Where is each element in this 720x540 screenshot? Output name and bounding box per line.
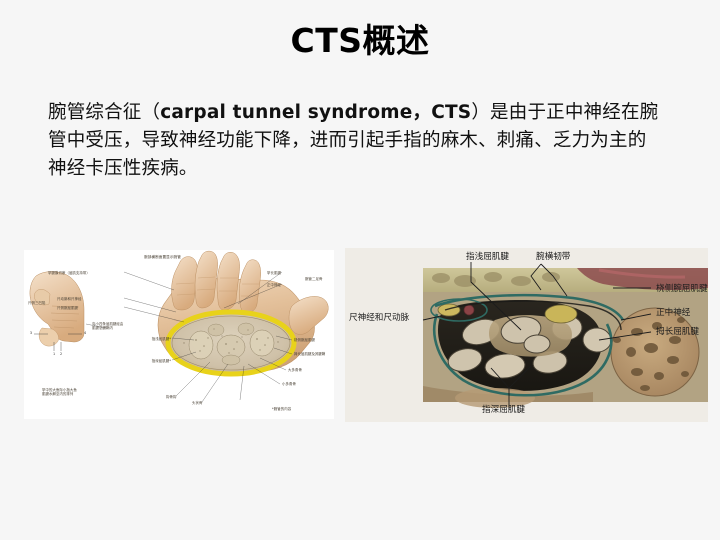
small-hand-caption: 掌中的大鱼际小指大鱼 肌腱水解至内的排列 [42,388,98,397]
left-label-2: 尺侧腕屈肌腱 [57,305,78,310]
left-label-4: 正中神经 [267,282,281,287]
figure-palm-carpal-tunnel: 3 4 1 2 [24,250,334,419]
left-label-9: 拇长屈肌腱及其腱鞘 [294,351,325,356]
left-label-7: 指深屈肌腱* [119,358,171,363]
left-figure-caption: 腕部横断面置显示腕管 [144,255,181,260]
left-label-14: 向小四条屈肌腱经由肌腱总腱鞘内 [92,322,124,331]
svg-text:1: 1 [53,352,55,356]
left-label-6: 指浅屈肌腱* [119,336,171,341]
left-label-0: 掌腱膜切断（屈肌支持带） [48,270,90,275]
left-label-15: 尺侧三凹陷 [28,300,45,305]
right-label-tcl: 腕横韧带 [536,250,570,262]
left-label-17: *腕管的内容 [272,406,291,411]
right-label-ulnar: 尺神经和尺动脉 [349,311,409,323]
body-line1-pre: 腕管综合征（ [48,102,160,123]
body-line1-post: ）是由于正中神经 [471,102,621,123]
body-paragraph: 腕管综合征（carpal tunnel syndrome，CTS）是由于正中神经… [48,99,662,183]
body-line1-latin: carpal tunnel syndrome，CTS [160,102,471,123]
svg-text:3: 3 [30,331,32,335]
left-label-1: 尺动脉和尺神经 [57,296,81,301]
slide-canvas: CTS概述 腕管综合征（carpal tunnel syndrome，CTS）是… [0,0,720,540]
left-label-8: 桡侧腕屈肌腱 [294,337,315,342]
left-label-12: 大多角骨 [288,367,302,372]
left-label-3: 掌长肌腱 [267,270,281,275]
cross-section-graphic [345,248,708,422]
page-title: CTS概述 [0,22,720,60]
right-label-fds: 指浅屈肌腱 [466,250,509,262]
figure-cross-section-photo: 管综合征因其 而受到广泛关 腕管内容物及 的解剖结构与 临床诊断治疗 密切相关需… [345,248,708,422]
left-label-11: 头状骨 [192,400,202,405]
svg-text:2: 2 [60,352,62,356]
left-label-10: 钩骨钩 [166,394,176,399]
right-label-fcr: 桡侧腕屈肌腱 [656,282,708,294]
right-label-median-nerve: 正中神经 [656,306,690,318]
right-label-fdp: 指深屈肌腱 [482,403,525,415]
right-label-fpl: 拇长屈肌腱 [656,325,699,337]
left-label-13: 小多角骨 [282,381,296,386]
left-label-16: 腕管二足骨 [305,276,322,281]
svg-text:4: 4 [84,331,86,335]
